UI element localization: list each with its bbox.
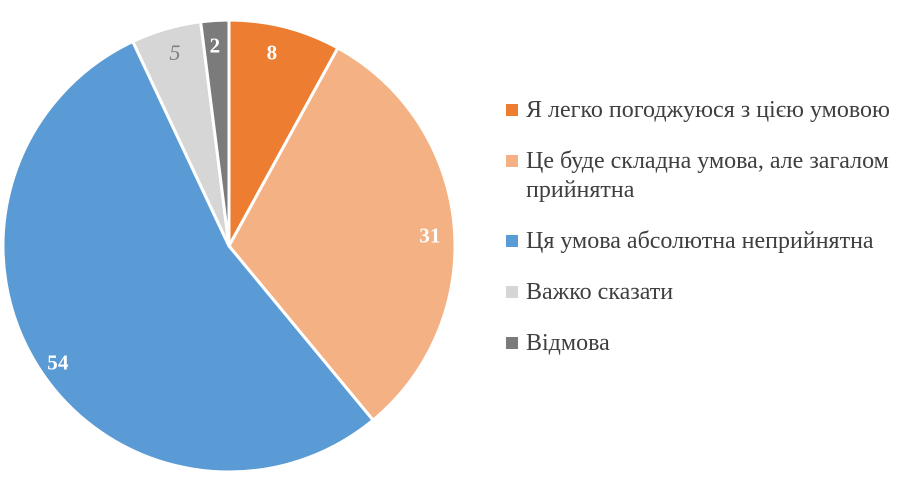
pie-chart-svg	[0, 0, 480, 504]
pie-slices	[3, 20, 455, 472]
pie-chart: 8 31 54 5 2	[0, 0, 480, 504]
chart-legend: Я легко погоджуюся з цією умовою Це буде…	[506, 96, 900, 358]
pie-slice-label-4: 2	[210, 36, 221, 57]
legend-item-3[interactable]: Важко сказати	[506, 278, 900, 307]
pie-slice-label-3: 5	[169, 42, 180, 64]
pie-slice-label-1: 31	[419, 226, 440, 247]
legend-item-4[interactable]: Відмова	[506, 329, 900, 358]
legend-item-1[interactable]: Це буде складна умова, але загалом прийн…	[506, 147, 900, 205]
legend-item-2[interactable]: Ця умова абсолютна неприйнятна	[506, 227, 900, 256]
legend-swatch-icon	[506, 235, 518, 247]
legend-swatch-icon	[506, 155, 518, 167]
legend-item-label: Я легко погоджуюся з цією умовою	[526, 96, 900, 125]
legend-swatch-icon	[506, 104, 518, 116]
legend-item-label: Ця умова абсолютна неприйнятна	[526, 227, 900, 256]
legend-item-0[interactable]: Я легко погоджуюся з цією умовою	[506, 96, 900, 125]
pie-slice-label-0: 8	[267, 43, 278, 64]
pie-slice-label-2: 54	[47, 353, 68, 374]
legend-item-label: Це буде складна умова, але загалом прийн…	[526, 147, 900, 205]
legend-swatch-icon	[506, 286, 518, 298]
legend-item-label: Важко сказати	[526, 278, 900, 307]
legend-swatch-icon	[506, 337, 518, 349]
legend-item-label: Відмова	[526, 329, 900, 358]
